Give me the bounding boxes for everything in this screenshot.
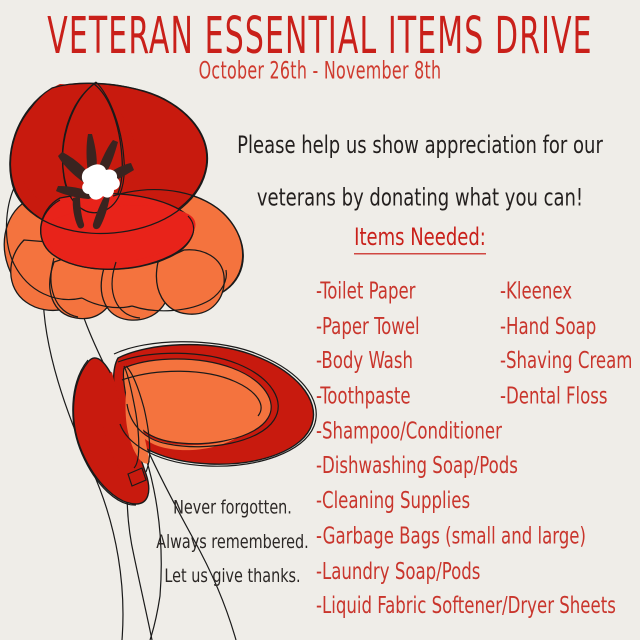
- lede-line-2: veterans by donating what you can!: [205, 171, 635, 224]
- list-item: -Shaving Cream: [500, 344, 632, 379]
- list-item: -Liquid Fabric Softener/Dryer Sheets: [316, 589, 616, 624]
- items-needed-heading: Items Needed:: [205, 222, 635, 251]
- list-item: -Laundry Soap/Pods: [316, 554, 616, 589]
- date-range: October 26th - November 8th: [22, 57, 617, 85]
- poster-canvas: VETERAN ESSENTIAL ITEMS DRIVE October 26…: [0, 0, 640, 640]
- lede-line-1: Please help us show appreciation for our: [205, 118, 635, 171]
- poppy-stamen-icon: [56, 134, 134, 229]
- memorial-line-2: Always remembered.: [140, 524, 325, 558]
- list-item: -Shampoo/Conditioner: [316, 414, 616, 449]
- memorial-line-3: Let us give thanks.: [140, 558, 325, 592]
- list-item: -Cleaning Supplies: [316, 484, 616, 519]
- list-item: -Kleenex: [500, 274, 632, 309]
- poppy-flower-side-icon: [73, 342, 316, 505]
- memorial-line-1: Never forgotten.: [140, 490, 325, 524]
- items-list-right-column: -Kleenex -Hand Soap -Shaving Cream -Dent…: [500, 274, 632, 414]
- items-needed-heading-text: Items Needed:: [354, 222, 486, 254]
- poppy-center-icon: [82, 164, 120, 199]
- memorial-message: Never forgotten. Always remembered. Let …: [140, 490, 325, 593]
- list-item: -Dishwashing Soap/Pods: [316, 449, 616, 484]
- list-item: -Dental Floss: [500, 379, 632, 414]
- list-item: -Hand Soap: [500, 309, 632, 344]
- list-item: -Garbage Bags (small and large): [316, 519, 616, 554]
- lede-paragraph: Please help us show appreciation for our…: [205, 118, 635, 224]
